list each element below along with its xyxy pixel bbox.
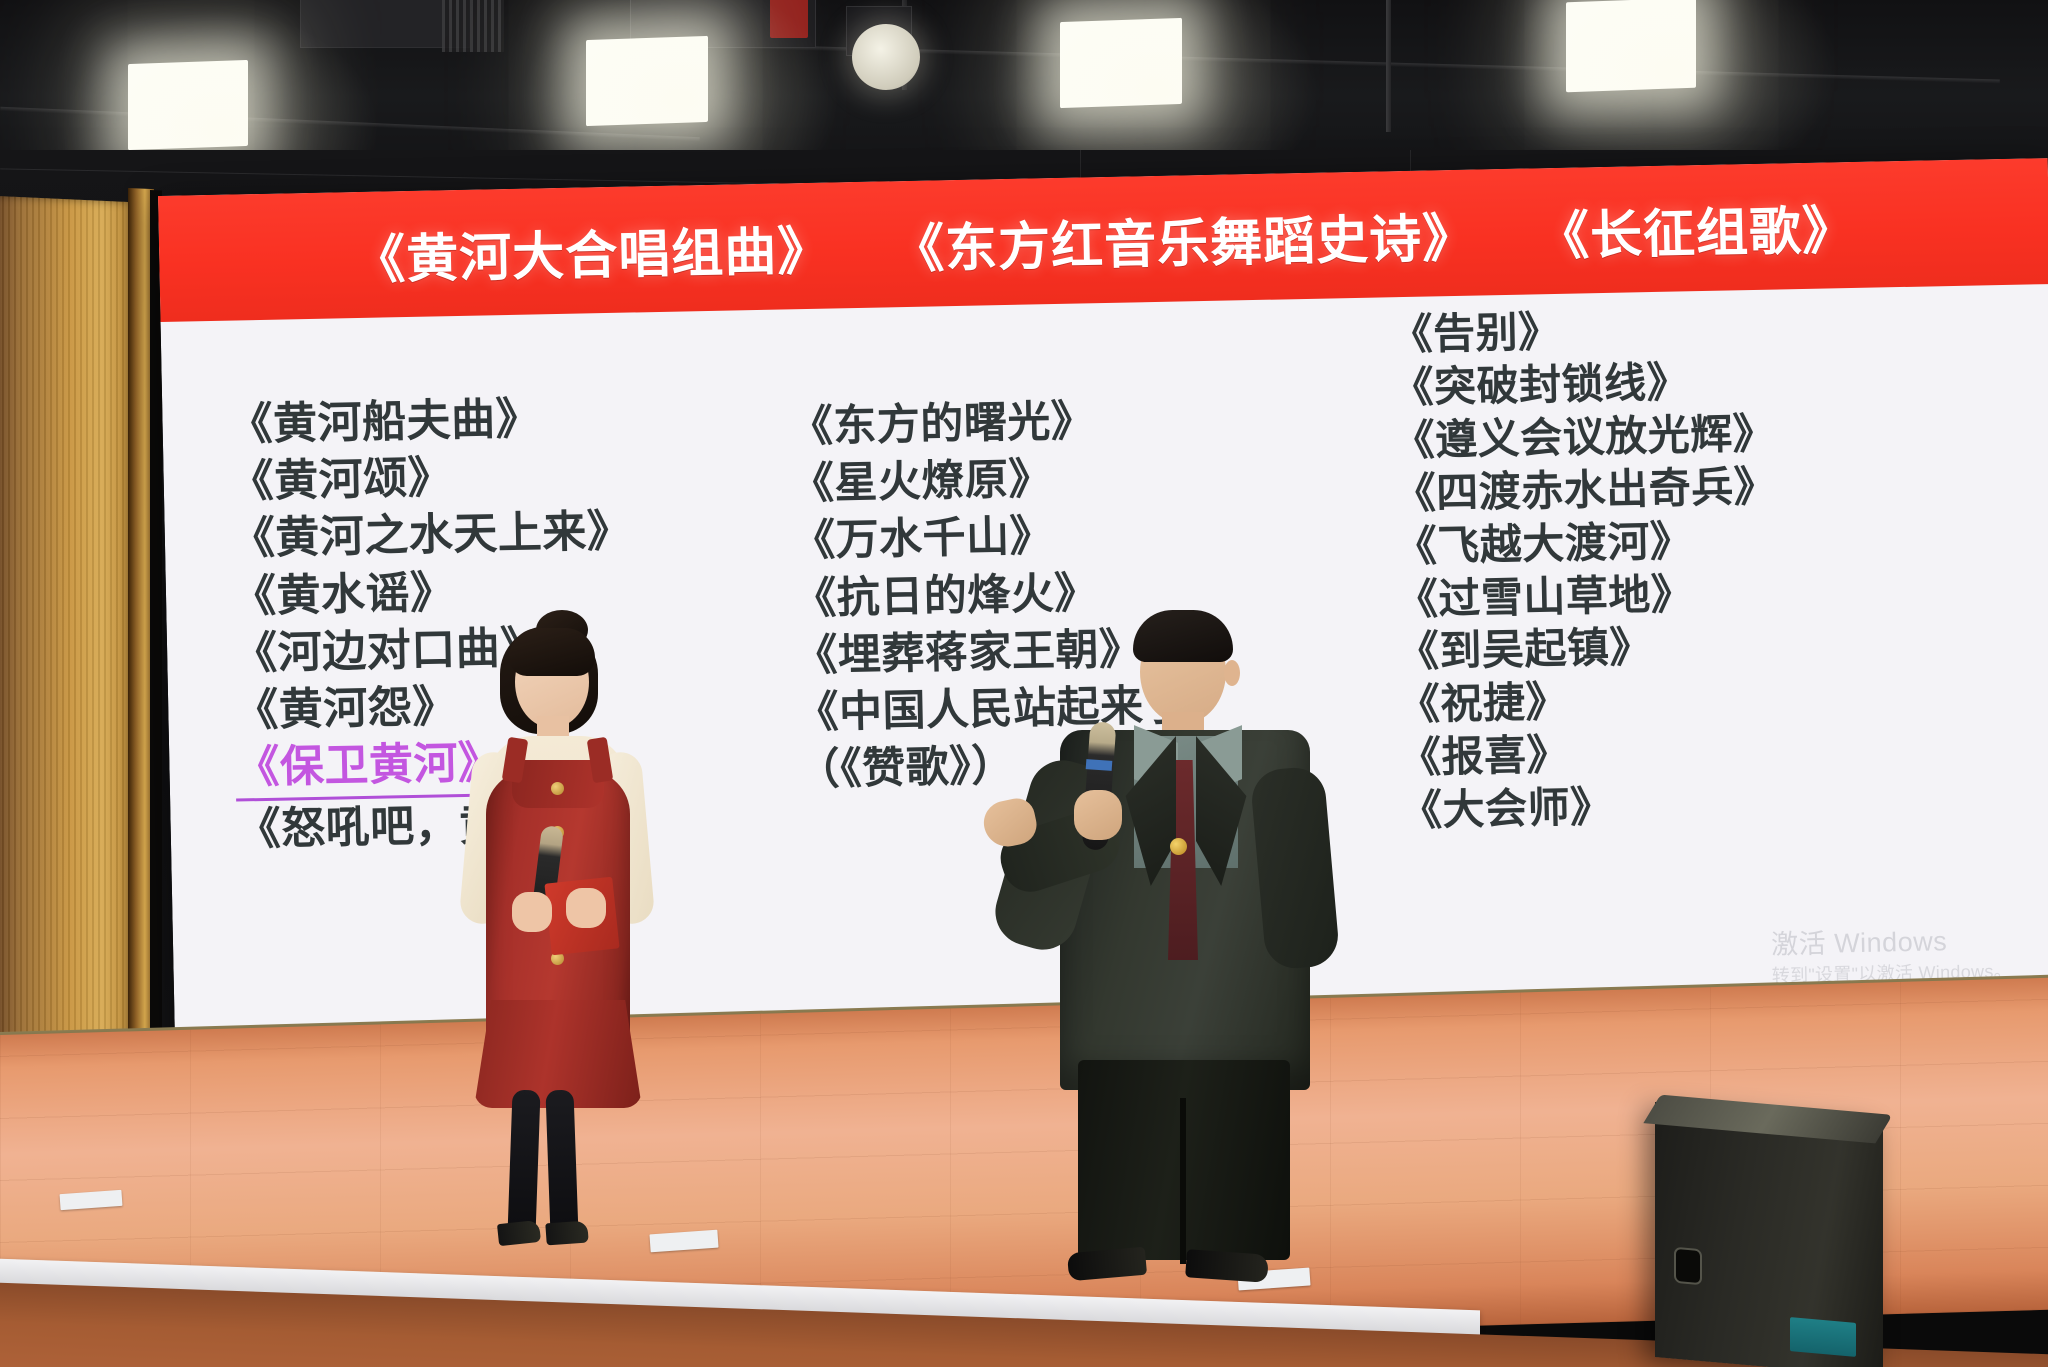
man-hair [1133, 610, 1233, 662]
song-column-changzheng: 《告别》 《突破封锁线》 《遵义会议放光辉》 《四渡赤水出奇兵》 《飞越大渡河》… [1334, 297, 2021, 1020]
slide-title-3: 《长征组歌》 [1536, 187, 1855, 268]
woman-leg-right [545, 1090, 578, 1237]
song-item: 《黄河船夫曲》 [228, 386, 752, 454]
woman-hair-front [509, 628, 595, 676]
woman-hand-right [566, 888, 606, 928]
loudspeaker-label [1790, 1317, 1856, 1357]
woman-dress-button [551, 782, 564, 795]
stage-scene: 《黄河大合唱组曲》 《东方红音乐舞蹈史诗》 《长征组歌》 《黄河船夫曲》 《黄河… [0, 0, 2048, 1367]
man-party-lapel-pin [1170, 838, 1187, 855]
song-item: 《黄水谣》 [231, 558, 755, 626]
ceiling-vent [442, 0, 504, 52]
man-hand-holding-microphone [1074, 790, 1122, 840]
loudspeaker-handle [1674, 1247, 1702, 1285]
song-item: 《河边对口曲》 [233, 615, 757, 683]
man-microphone-band [1086, 759, 1113, 771]
woman-leg-left [507, 1090, 540, 1237]
song-item: 《大会师》 [1400, 773, 2017, 838]
ceiling-panel-light [586, 36, 708, 126]
man-shoe-right [1185, 1249, 1269, 1283]
woman-shoe-right [545, 1221, 588, 1246]
song-item: 《黄河颂》 [229, 443, 753, 511]
ceiling-red-indicator [770, 0, 808, 38]
ceiling-round-light [852, 24, 920, 90]
slide-title-2: 《东方红音乐舞蹈史诗》 [891, 195, 1475, 282]
ceiling-panel-light [128, 60, 248, 150]
left-wood-wall [0, 196, 132, 1082]
man-ear [1224, 660, 1240, 686]
ceiling-panel-light [1060, 18, 1182, 108]
song-item-highlighted: 《保卫黄河》 [235, 734, 503, 802]
woman-shoe-left [497, 1220, 541, 1246]
ceiling-pole [1386, 0, 1391, 132]
song-item: 《黄河怨》 [234, 672, 758, 740]
ceiling-panel-light [1566, 0, 1696, 92]
woman-hand-left [512, 892, 552, 932]
man-trouser-gap [1180, 1098, 1186, 1264]
slide-title-1: 《黄河大合唱组曲》 [352, 208, 830, 293]
song-column-huanghe: 《黄河船夫曲》 《黄河颂》 《黄河之水天上来》 《黄水谣》 《河边对口曲》 《黄… [205, 322, 764, 1043]
song-item: 《黄河之水天上来》 [230, 500, 754, 568]
